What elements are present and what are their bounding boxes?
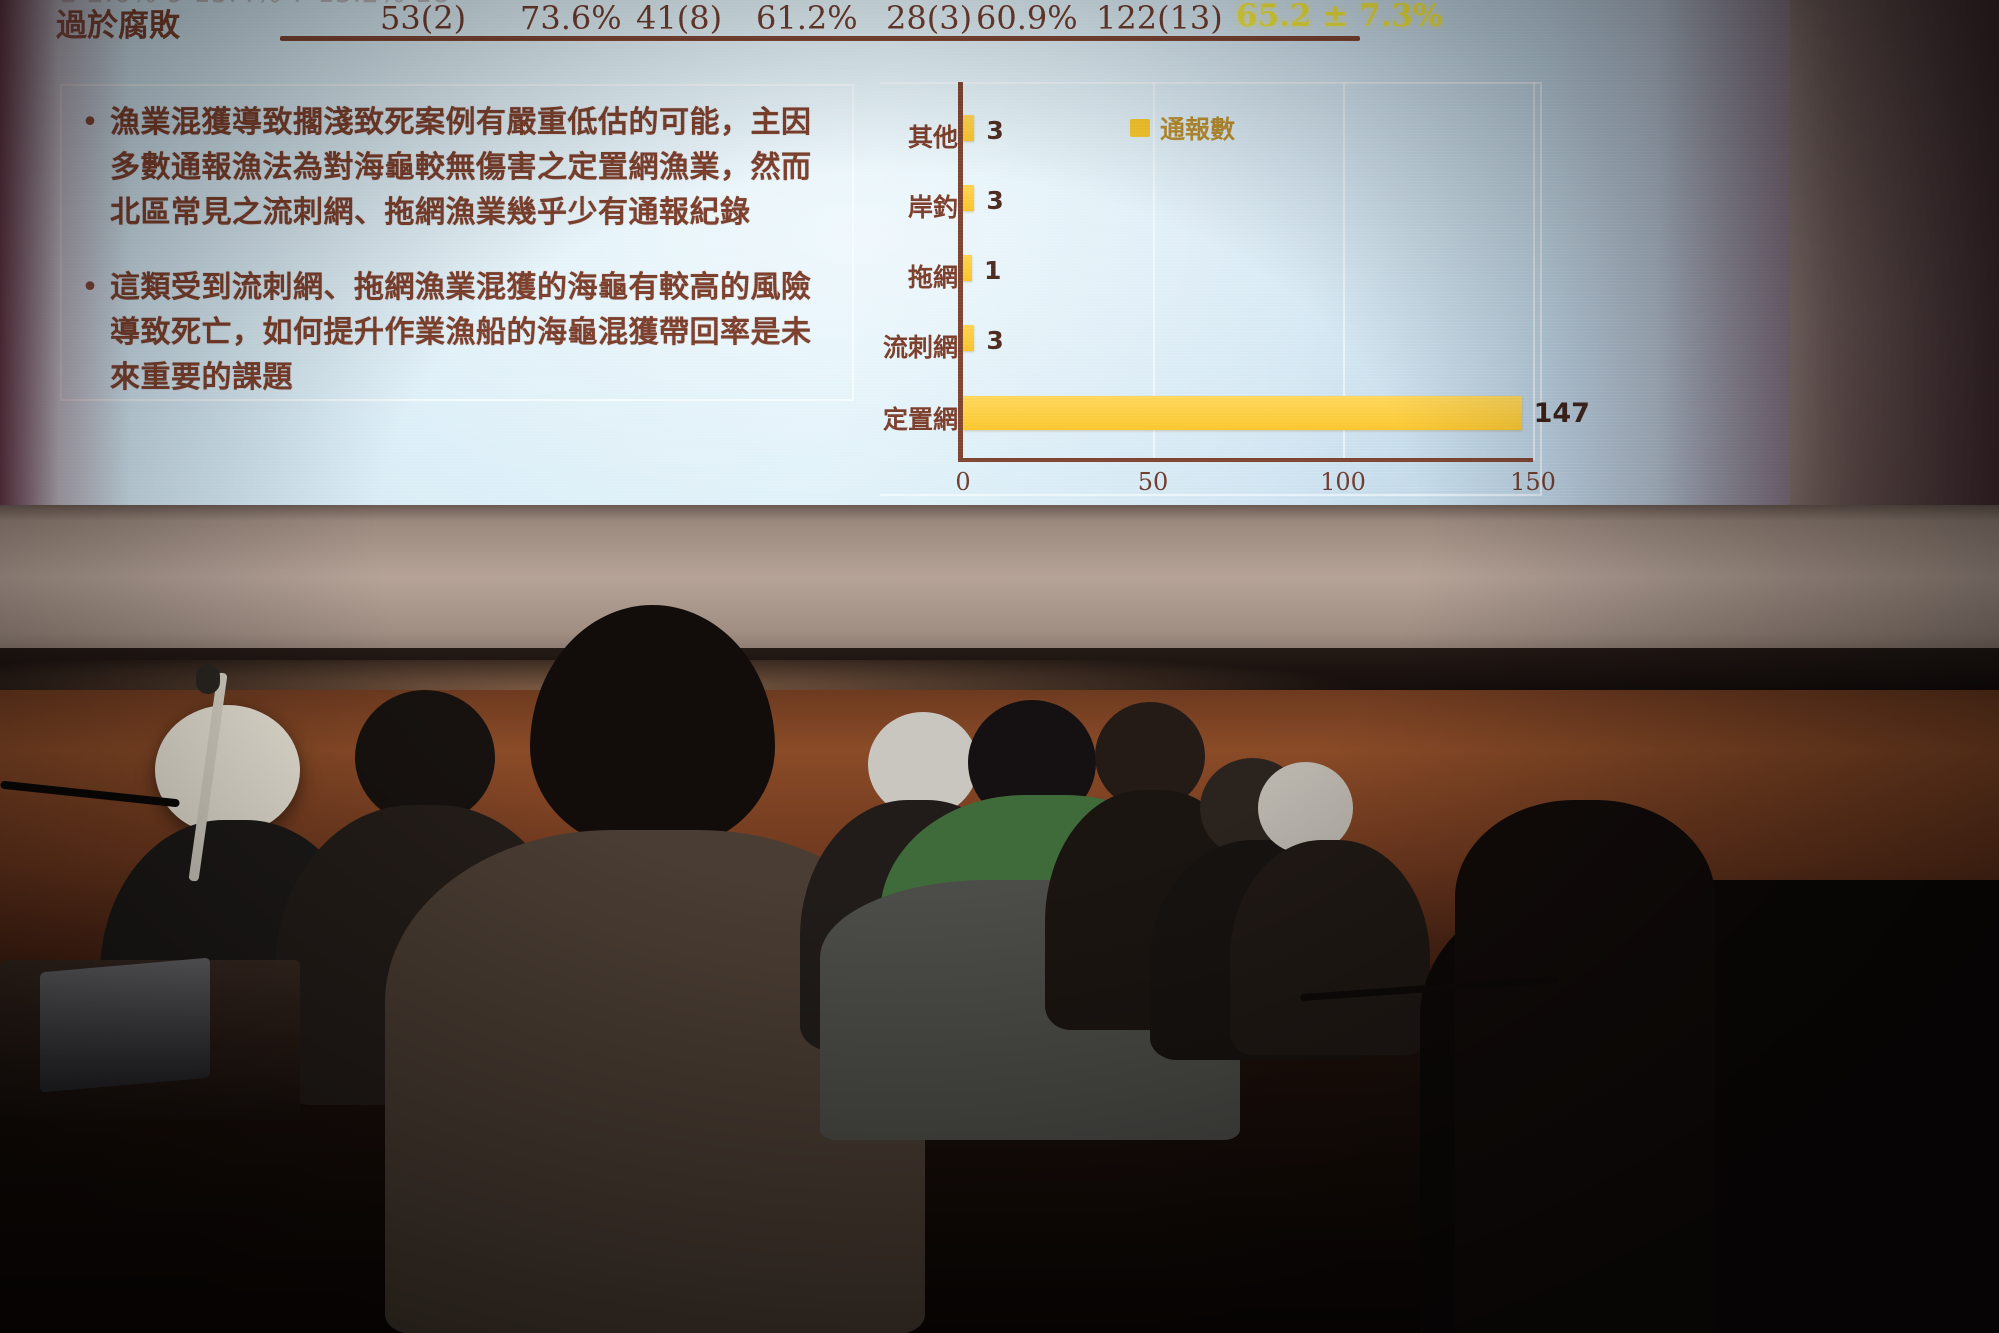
table-cell-2: 41(8) (636, 0, 722, 37)
bullet-line: 來重要的課題 (110, 355, 812, 400)
chart-x-tick: 100 (1320, 468, 1366, 496)
chart-x-tick: 50 (1138, 468, 1169, 496)
chart-category-label: 流刺網 (838, 328, 958, 364)
chart-bar-row: 其他3 (880, 112, 1540, 184)
bullet-line: 北區常見之流刺網、拖網漁業幾乎少有通報紀錄 (110, 190, 812, 235)
table-cell-0: 53(2) (380, 0, 466, 37)
projection-screen: 2 2.6% 9 15.4% 7 15.2% 18 過於腐敗 53(2) 73.… (0, 0, 1790, 530)
chart-bar-row: 岸釣3 (880, 182, 1540, 254)
table-cell-6: 122(13) (1096, 0, 1223, 37)
chart-bar-row: 定置網147 (880, 392, 1540, 464)
screenshot-stage: 2 2.6% 9 15.4% 7 15.2% 18 過於腐敗 53(2) 73.… (0, 0, 1999, 1333)
table-highlight-value: 65.2 ± 7.3% (1236, 0, 1442, 34)
chart-bar-row: 拖網1 (880, 252, 1540, 324)
chart-category-label: 定置網 (838, 400, 958, 436)
bullet-item: • 這類受到流刺網、拖網漁業混獲的海龜有較高的風險 導致死亡，如何提升作業漁船的… (70, 265, 870, 400)
chart-category-label: 拖網 (838, 258, 958, 294)
chart-value-label: 3 (986, 116, 1003, 145)
chart-bar (963, 255, 972, 281)
table-cell-1: 73.6% (520, 0, 622, 37)
laptop-screen (40, 958, 210, 1093)
bullet-line: 漁業混獲導致擱淺致死案例有嚴重低估的可能，主因 (110, 100, 812, 145)
audience-right-person (1455, 800, 1715, 1333)
bullet-text: 這類受到流刺網、拖網漁業混獲的海龜有較高的風險 導致死亡，如何提升作業漁船的海龜… (110, 265, 812, 400)
table-row: 過於腐敗 53(2) 73.6% 41(8) 61.2% 28(3) 60.9%… (56, 0, 1586, 38)
chart-x-tick-labels: 050100150 (880, 468, 1540, 502)
bycatch-report-bar-chart: 通報數 其他3岸釣3拖網1流刺網3定置網147 050100150 (880, 82, 1540, 492)
table-cell-3: 61.2% (756, 0, 858, 37)
stage-front-panel (0, 505, 1999, 665)
audience-head (155, 705, 300, 835)
table-cell-4: 28(3) (886, 0, 972, 37)
chart-bar (963, 396, 1522, 430)
chart-category-label: 岸釣 (838, 188, 958, 224)
chart-bar (963, 325, 974, 351)
slide-bullet-list: • 漁業混獲導致擱淺致死案例有嚴重低估的可能，主因 多數通報漁法為對海龜較無傷害… (70, 100, 870, 430)
bullet-text: 漁業混獲導致擱淺致死案例有嚴重低估的可能，主因 多數通報漁法為對海龜較無傷害之定… (110, 100, 812, 235)
bullet-line: 多數通報漁法為對海龜較無傷害之定置網漁業，然而 (110, 145, 812, 190)
chart-x-axis (958, 458, 1533, 462)
audience-body (1230, 840, 1430, 1055)
slide-table-fragment: 2 2.6% 9 15.4% 7 15.2% 18 過於腐敗 53(2) 73.… (0, 0, 1600, 50)
table-rule (280, 36, 1360, 41)
chart-x-tick: 0 (955, 468, 970, 496)
screen-right-glare (1550, 0, 1790, 530)
bullet-line: 導致死亡，如何提升作業漁船的海龜混獲帶回率是未 (110, 310, 812, 355)
chart-bar-row: 流刺網3 (880, 322, 1540, 394)
chart-value-label: 3 (986, 186, 1003, 215)
chart-bar (963, 115, 974, 141)
chart-value-label: 1 (984, 256, 1001, 285)
microphone-head-icon (196, 664, 220, 694)
chart-bar (963, 185, 974, 211)
bullet-line: 這類受到流刺網、拖網漁業混獲的海龜有較高的風險 (110, 265, 812, 310)
chart-value-label: 3 (986, 326, 1003, 355)
screen-left-glare (0, 0, 130, 530)
bullet-item: • 漁業混獲導致擱淺致死案例有嚴重低估的可能，主因 多數通報漁法為對海龜較無傷害… (70, 100, 870, 235)
chart-category-label: 其他 (838, 118, 958, 154)
table-cell-5: 60.9% (976, 0, 1078, 37)
